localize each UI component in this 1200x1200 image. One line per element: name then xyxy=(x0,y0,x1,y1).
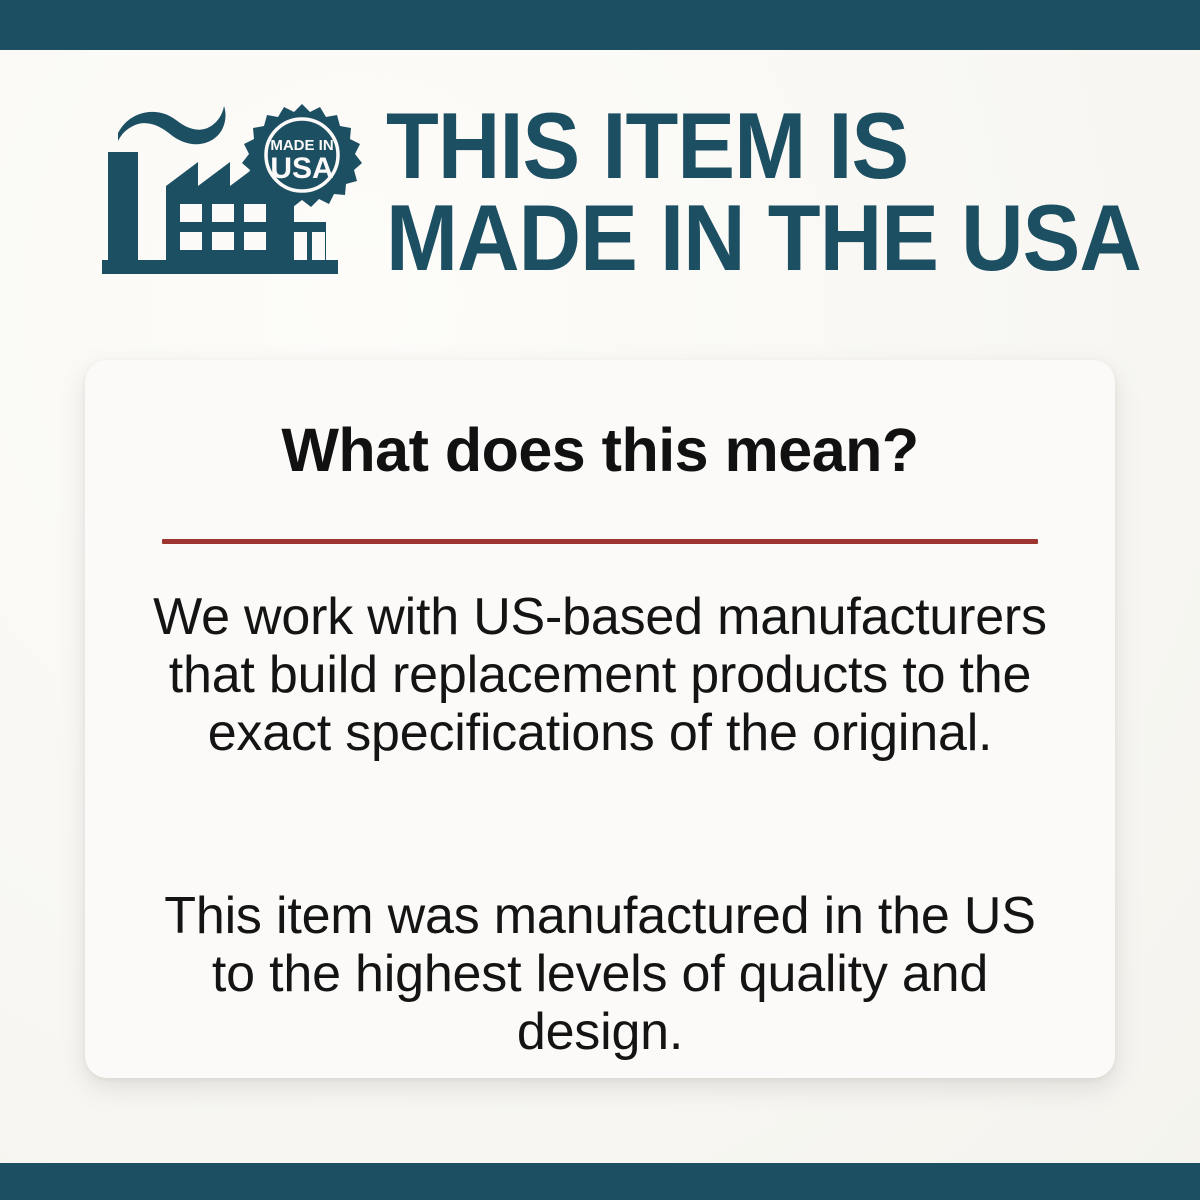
card-paragraph-1: We work with US-based manufacturers that… xyxy=(145,588,1055,762)
bottom-band xyxy=(0,1163,1200,1200)
ground-bar xyxy=(102,260,338,274)
header: MADE IN USA THIS ITEM IS MADE IN THE USA xyxy=(0,50,1200,310)
door xyxy=(294,232,307,260)
window xyxy=(180,204,202,222)
red-rule-divider xyxy=(162,539,1038,544)
smoke-plume-icon xyxy=(118,106,226,144)
headline-line-1: THIS ITEM IS xyxy=(386,100,1113,192)
window xyxy=(180,232,202,250)
page-root: MADE IN USA THIS ITEM IS MADE IN THE USA… xyxy=(0,0,1200,1200)
factory-logo: MADE IN USA xyxy=(100,100,340,280)
door xyxy=(312,232,325,260)
window xyxy=(244,204,266,222)
explanation-card: What does this mean? We work with US-bas… xyxy=(85,360,1115,1078)
card-paragraph-2: This item was manufactured in the US to … xyxy=(145,887,1055,1061)
badge-line-2: USA xyxy=(270,152,333,185)
factory-icon: MADE IN USA xyxy=(100,100,340,280)
card-body: We work with US-based manufacturers that… xyxy=(145,588,1055,1061)
window xyxy=(244,232,266,250)
window xyxy=(212,232,234,250)
made-in-usa-badge-icon: MADE IN USA xyxy=(242,104,362,207)
top-band xyxy=(0,0,1200,50)
window xyxy=(212,204,234,222)
card-heading: What does this mean? xyxy=(85,420,1115,481)
headline: THIS ITEM IS MADE IN THE USA xyxy=(386,100,1176,284)
headline-line-2: MADE IN THE USA xyxy=(386,192,1113,284)
chimney xyxy=(108,152,138,272)
